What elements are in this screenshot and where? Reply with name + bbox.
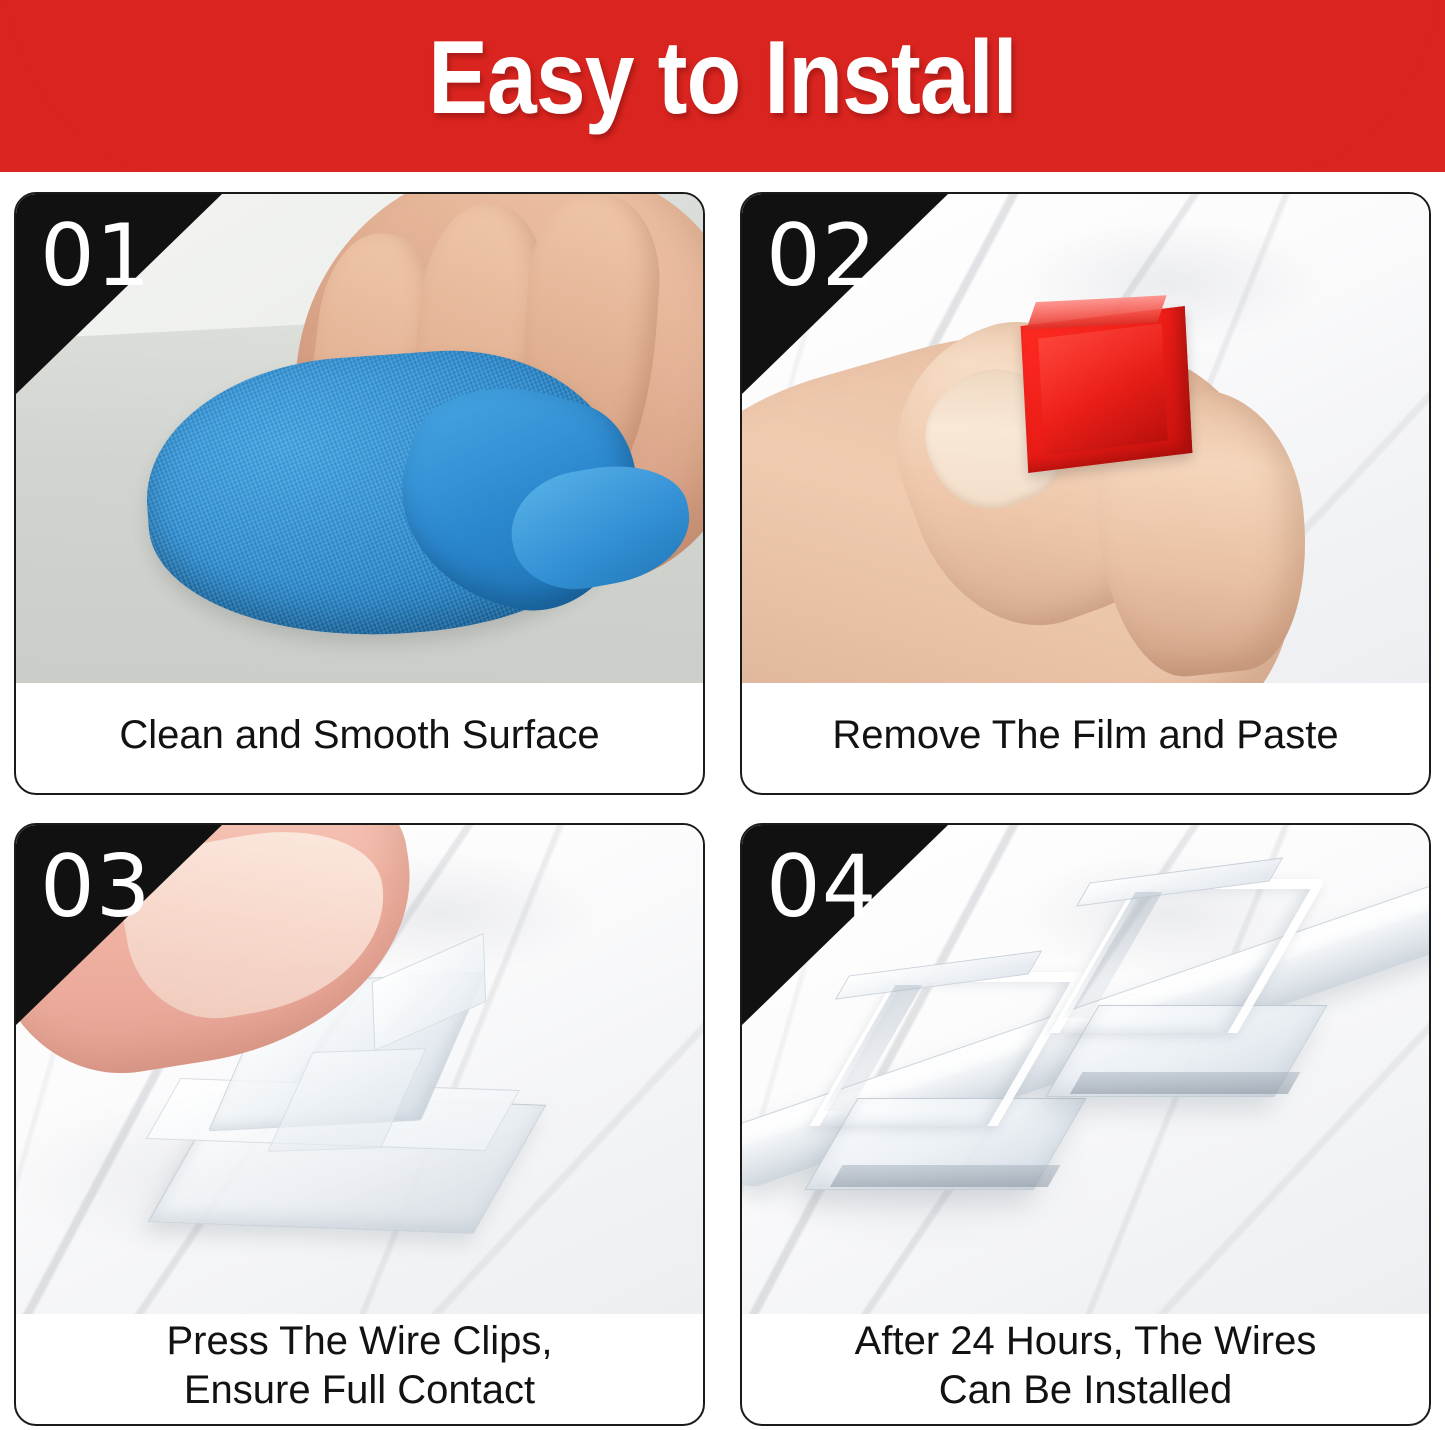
- clip-base-edge: [1070, 1072, 1301, 1094]
- steps-grid: 01 Clean and Smooth Surface 02 Remove Th…: [14, 192, 1431, 1426]
- clear-clip-left: [831, 972, 1058, 1197]
- step-card-01[interactable]: 01 Clean and Smooth Surface: [14, 192, 705, 795]
- step-photo-01: 01: [16, 194, 703, 683]
- step-photo-02: 02: [742, 194, 1429, 683]
- step-caption-04: After 24 Hours, The Wires Can Be Install…: [742, 1314, 1429, 1424]
- step-card-02[interactable]: 02 Remove The Film and Paste: [740, 192, 1431, 795]
- page-title: Easy to Install: [101, 16, 1344, 141]
- header-banner: Easy to Install: [0, 0, 1445, 172]
- step-caption-02: Remove The Film and Paste: [742, 683, 1429, 793]
- step-photo-04: 04: [742, 825, 1429, 1314]
- step-caption-03: Press The Wire Clips, Ensure Full Contac…: [16, 1314, 703, 1424]
- step-photo-03: 03: [16, 825, 703, 1314]
- step-caption-01: Clean and Smooth Surface: [16, 683, 703, 793]
- red-clip-highlight: [1038, 323, 1167, 455]
- clip-base-edge: [829, 1165, 1060, 1187]
- clear-clip-right: [1072, 879, 1299, 1104]
- step-card-03[interactable]: 03 Press The Wire Clips, Ensure Full Con…: [14, 823, 705, 1426]
- step-card-04[interactable]: 04 After 24 Hours, The Wires Can Be Inst…: [740, 823, 1431, 1426]
